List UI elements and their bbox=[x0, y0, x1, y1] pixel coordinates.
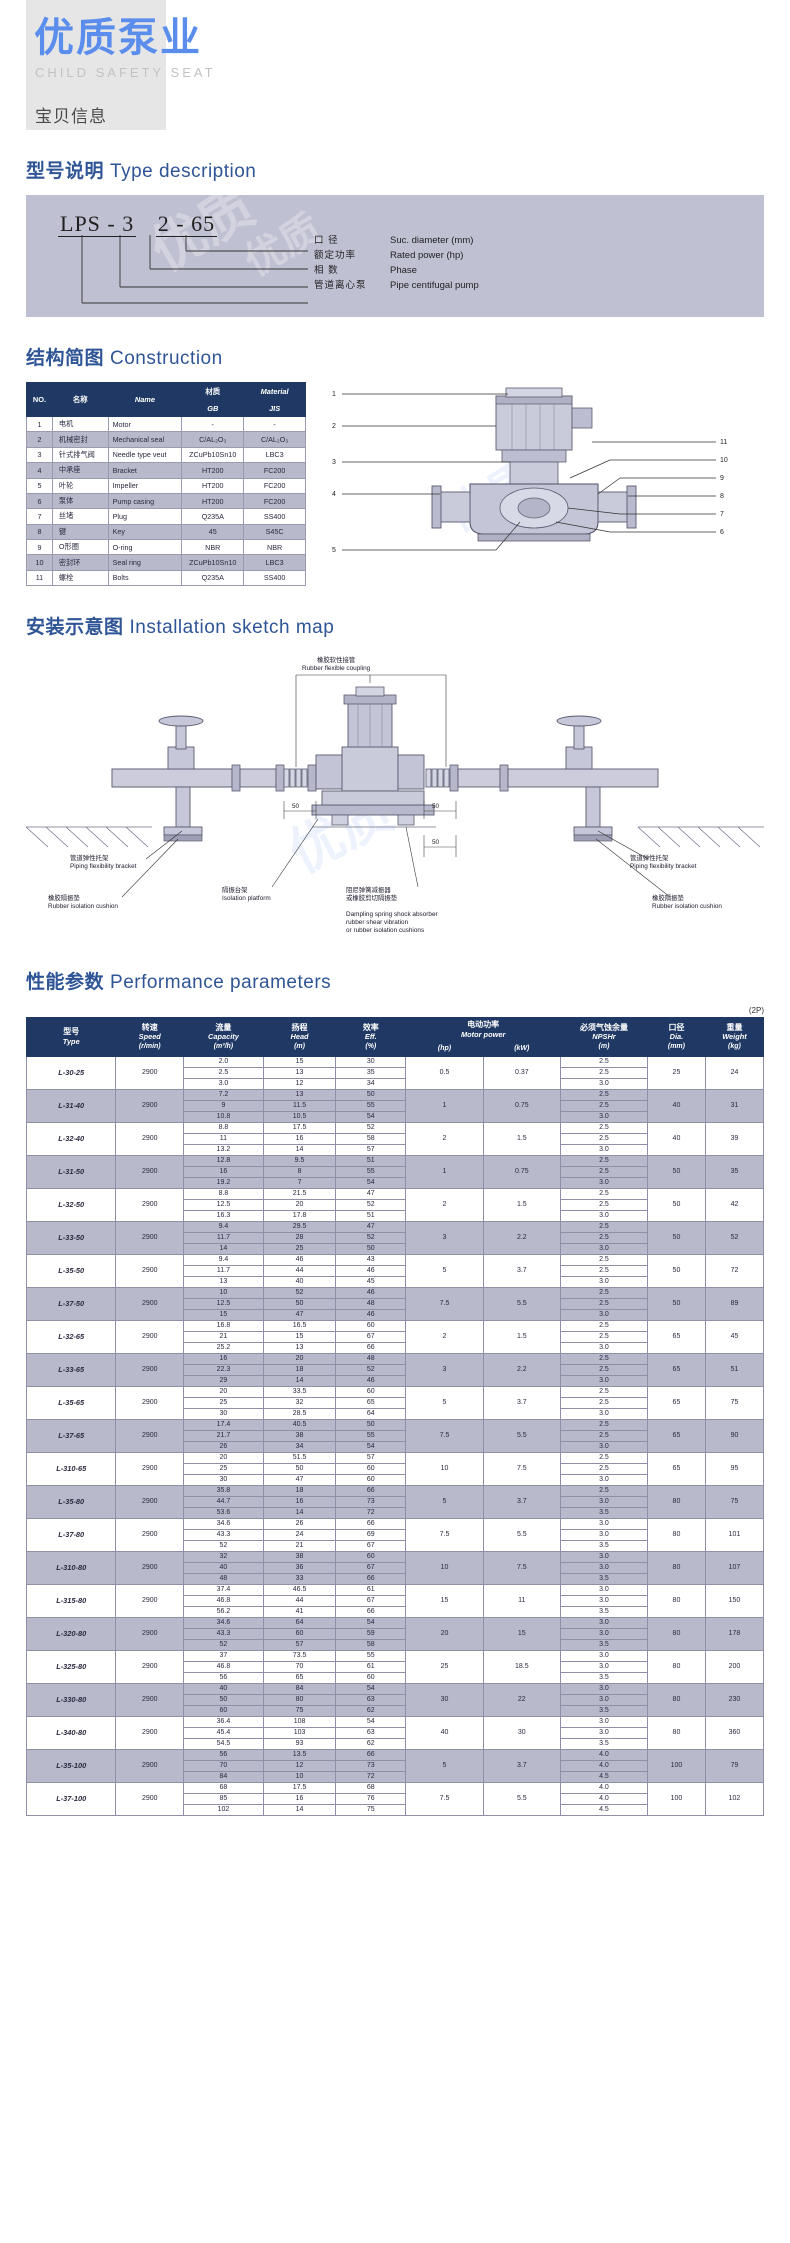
performance-npshr: 3.0 bbox=[560, 1441, 647, 1452]
performance-table-row: L-32-5029008.821.54721.52.55042 bbox=[27, 1188, 764, 1199]
performance-motor-kw: 5.5 bbox=[483, 1518, 560, 1551]
performance-eff: 68 bbox=[336, 1782, 406, 1793]
performance-capacity: 52 bbox=[184, 1639, 264, 1650]
construction-no: 11 bbox=[27, 570, 53, 585]
performance-capacity: 13.2 bbox=[184, 1144, 264, 1155]
performance-npshr: 3.0 bbox=[560, 1496, 647, 1507]
performance-head: 13 bbox=[263, 1067, 335, 1078]
performance-dia: 40 bbox=[647, 1089, 705, 1122]
performance-npshr: 4.5 bbox=[560, 1771, 647, 1782]
performance-capacity: 25 bbox=[184, 1397, 264, 1408]
performance-npshr: 2.5 bbox=[560, 1452, 647, 1463]
performance-speed: 2900 bbox=[116, 1287, 184, 1320]
construction-material-jis: - bbox=[244, 417, 306, 432]
performance-capacity: 46.8 bbox=[184, 1595, 264, 1606]
pump-cross-section-figure: 优质 bbox=[320, 382, 764, 567]
performance-eff: 34 bbox=[336, 1078, 406, 1089]
performance-npshr: 3.5 bbox=[560, 1507, 647, 1518]
performance-capacity: 9.4 bbox=[184, 1254, 264, 1265]
th-head: 扬程 Head (m) bbox=[263, 1018, 335, 1057]
performance-eff: 66 bbox=[336, 1518, 406, 1529]
performance-motor-hp: 20 bbox=[406, 1617, 483, 1650]
performance-motor-hp: 5 bbox=[406, 1485, 483, 1518]
performance-weight: 101 bbox=[705, 1518, 763, 1551]
construction-no: 5 bbox=[27, 478, 53, 493]
product-page: 优质泵业 CHILD SAFETY SEAT 宝贝信息 型号说明Type des… bbox=[0, 0, 790, 1816]
performance-speed: 2900 bbox=[116, 1617, 184, 1650]
performance-motor-kw: 0.75 bbox=[483, 1155, 560, 1188]
th-eff-cn: 效率 bbox=[337, 1023, 404, 1033]
label-cn: 橡胶隔振垫 bbox=[48, 895, 118, 903]
construction-no: 7 bbox=[27, 509, 53, 524]
performance-motor-kw: 15 bbox=[483, 1617, 560, 1650]
type-legend-row: 相 数 Phase bbox=[314, 263, 479, 278]
performance-npshr: 4.0 bbox=[560, 1782, 647, 1793]
performance-motor-kw: 3.7 bbox=[483, 1254, 560, 1287]
performance-type: L-32-50 bbox=[27, 1188, 116, 1221]
performance-capacity: 11.7 bbox=[184, 1232, 264, 1243]
performance-npshr: 2.5 bbox=[560, 1265, 647, 1276]
performance-npshr: 3.5 bbox=[560, 1573, 647, 1584]
section-title-installation-cn: 安装示意图 bbox=[26, 617, 124, 638]
label-cn: 阻尼弹簧减振器 或橡胶剪切隔振垫 bbox=[346, 887, 438, 903]
performance-speed: 2900 bbox=[116, 1122, 184, 1155]
construction-table-row: 5叶轮ImpellerHT200FC200 bbox=[27, 478, 306, 493]
performance-dia: 65 bbox=[647, 1386, 705, 1419]
performance-capacity: 60 bbox=[184, 1705, 264, 1716]
performance-motor-hp: 1 bbox=[406, 1089, 483, 1122]
performance-speed: 2900 bbox=[116, 1419, 184, 1452]
performance-eff: 66 bbox=[336, 1485, 406, 1496]
performance-capacity: 85 bbox=[184, 1793, 264, 1804]
performance-npshr: 4.0 bbox=[560, 1749, 647, 1760]
construction-material-gb: - bbox=[182, 417, 244, 432]
performance-capacity: 54.5 bbox=[184, 1738, 264, 1749]
performance-table-row: L-315-80290037.446.56115113.080150 bbox=[27, 1584, 764, 1595]
performance-head: 8 bbox=[263, 1166, 335, 1177]
performance-eff: 60 bbox=[336, 1551, 406, 1562]
th-motor-hp: (hp) bbox=[406, 1042, 483, 1057]
th-motor-en: Motor power bbox=[407, 1030, 559, 1040]
performance-head: 44 bbox=[263, 1265, 335, 1276]
performance-capacity: 29 bbox=[184, 1375, 264, 1386]
performance-npshr: 3.0 bbox=[560, 1177, 647, 1188]
performance-head: 60 bbox=[263, 1628, 335, 1639]
performance-type: L-325-80 bbox=[27, 1650, 116, 1683]
performance-table-row: L-35-5029009.4464353.72.55072 bbox=[27, 1254, 764, 1265]
performance-eff: 46 bbox=[336, 1287, 406, 1298]
performance-motor-hp: 7.5 bbox=[406, 1782, 483, 1815]
performance-head: 40 bbox=[263, 1276, 335, 1287]
performance-eff: 61 bbox=[336, 1584, 406, 1595]
label-en: Rubber isolation cushion bbox=[48, 903, 118, 911]
performance-weight: 230 bbox=[705, 1683, 763, 1716]
performance-capacity: 25 bbox=[184, 1463, 264, 1474]
performance-type: L-35-80 bbox=[27, 1485, 116, 1518]
construction-area: NO. 名称 Name 材质 Material GB JIS 1电机Motor-… bbox=[26, 382, 764, 586]
performance-table-row: L-33-5029009.429.54732.22.55052 bbox=[27, 1221, 764, 1232]
installation-sketch: 优质 bbox=[26, 651, 764, 941]
performance-table-row: L-32-4029008.817.55221.52.54039 bbox=[27, 1122, 764, 1133]
performance-npshr: 4.5 bbox=[560, 1804, 647, 1815]
performance-motor-hp: 7.5 bbox=[406, 1287, 483, 1320]
construction-name-en: Impeller bbox=[108, 478, 182, 493]
performance-eff: 52 bbox=[336, 1122, 406, 1133]
performance-dia: 50 bbox=[647, 1155, 705, 1188]
performance-head: 17.8 bbox=[263, 1210, 335, 1221]
performance-capacity: 36.4 bbox=[184, 1716, 264, 1727]
performance-table-row: L-310-6529002051.557107.52.56595 bbox=[27, 1452, 764, 1463]
performance-weight: 200 bbox=[705, 1650, 763, 1683]
performance-npshr: 2.5 bbox=[560, 1397, 647, 1408]
section-title-performance-en: Performance parameters bbox=[104, 972, 331, 993]
svg-text:9: 9 bbox=[720, 475, 724, 482]
performance-head: 9.5 bbox=[263, 1155, 335, 1166]
label-en: Rubber isolation cushion bbox=[652, 903, 722, 911]
performance-table-row: L-310-802900323860107.53.080107 bbox=[27, 1551, 764, 1562]
performance-npshr: 2.5 bbox=[560, 1166, 647, 1177]
construction-table-row: 8键Key45S45C bbox=[27, 524, 306, 539]
brand-header: 优质泵业 CHILD SAFETY SEAT 宝贝信息 bbox=[0, 0, 790, 130]
performance-eff: 52 bbox=[336, 1232, 406, 1243]
construction-name-en: Needle type veut bbox=[108, 447, 182, 462]
performance-head: 65 bbox=[263, 1672, 335, 1683]
th-head-unit: (m) bbox=[265, 1042, 334, 1052]
construction-name-cn: 针式排气阀 bbox=[52, 447, 108, 462]
performance-head: 17.5 bbox=[263, 1122, 335, 1133]
performance-head: 33 bbox=[263, 1573, 335, 1584]
performance-head: 51.5 bbox=[263, 1452, 335, 1463]
performance-capacity: 7.2 bbox=[184, 1089, 264, 1100]
performance-speed: 2900 bbox=[116, 1782, 184, 1815]
performance-dia: 80 bbox=[647, 1485, 705, 1518]
performance-npshr: 2.5 bbox=[560, 1430, 647, 1441]
construction-no: 8 bbox=[27, 524, 53, 539]
label-en: Piping flexibility bracket bbox=[70, 863, 136, 871]
section-title-performance-cn: 性能参数 bbox=[26, 972, 104, 993]
performance-npshr: 3.0 bbox=[560, 1727, 647, 1738]
performance-capacity: 102 bbox=[184, 1804, 264, 1815]
performance-npshr: 2.5 bbox=[560, 1463, 647, 1474]
label-en: Rubber flexible coupling bbox=[302, 665, 370, 673]
performance-type: L-35-65 bbox=[27, 1386, 116, 1419]
performance-eff: 60 bbox=[336, 1463, 406, 1474]
performance-capacity: 16 bbox=[184, 1166, 264, 1177]
type-legend-en: Pipe centifugal pump bbox=[390, 278, 479, 293]
th-no: NO. bbox=[27, 383, 53, 417]
performance-capacity: 14 bbox=[184, 1243, 264, 1254]
performance-head: 13 bbox=[263, 1089, 335, 1100]
performance-eff: 72 bbox=[336, 1507, 406, 1518]
performance-capacity: 34.6 bbox=[184, 1518, 264, 1529]
performance-pole-note: (2P) bbox=[0, 1006, 764, 1015]
performance-eff: 62 bbox=[336, 1738, 406, 1749]
th-capacity-cn: 流量 bbox=[185, 1023, 262, 1033]
performance-eff: 52 bbox=[336, 1199, 406, 1210]
performance-type: L-32-65 bbox=[27, 1320, 116, 1353]
performance-speed: 2900 bbox=[116, 1188, 184, 1221]
performance-motor-kw: 0.37 bbox=[483, 1056, 560, 1089]
performance-capacity: 2.0 bbox=[184, 1056, 264, 1067]
performance-capacity: 12.5 bbox=[184, 1199, 264, 1210]
performance-capacity: 70 bbox=[184, 1760, 264, 1771]
construction-table-row: 4中承座BracketHT200FC200 bbox=[27, 463, 306, 478]
performance-motor-kw: 7.5 bbox=[483, 1551, 560, 1584]
label-en: Isolation platform bbox=[222, 895, 271, 903]
performance-dia: 80 bbox=[647, 1650, 705, 1683]
section-title-type-description-cn: 型号说明 bbox=[26, 161, 104, 182]
performance-capacity: 44.7 bbox=[184, 1496, 264, 1507]
construction-material-jis: FC200 bbox=[244, 493, 306, 508]
svg-text:5: 5 bbox=[332, 547, 336, 554]
type-leader-lines bbox=[26, 195, 326, 317]
performance-capacity: 56.2 bbox=[184, 1606, 264, 1617]
performance-capacity: 21.7 bbox=[184, 1430, 264, 1441]
label-en: Piping flexibility bracket bbox=[630, 863, 696, 871]
performance-head: 14 bbox=[263, 1804, 335, 1815]
performance-eff: 67 bbox=[336, 1595, 406, 1606]
performance-eff: 67 bbox=[336, 1562, 406, 1573]
performance-head: 44 bbox=[263, 1595, 335, 1606]
construction-material-gb: ZCuPb10Sn10 bbox=[182, 447, 244, 462]
performance-eff: 43 bbox=[336, 1254, 406, 1265]
performance-motor-hp: 15 bbox=[406, 1584, 483, 1617]
th-speed-cn: 转速 bbox=[117, 1023, 182, 1033]
performance-motor-hp: 25 bbox=[406, 1650, 483, 1683]
performance-capacity: 48 bbox=[184, 1573, 264, 1584]
th-motor-power: 电动功率 Motor power bbox=[406, 1018, 561, 1042]
performance-head: 64 bbox=[263, 1617, 335, 1628]
th-eff-en: Eff. bbox=[337, 1032, 404, 1042]
performance-motor-kw: 11 bbox=[483, 1584, 560, 1617]
performance-capacity: 25.2 bbox=[184, 1342, 264, 1353]
th-dia-unit: (mm) bbox=[649, 1042, 704, 1052]
performance-type: L-37-50 bbox=[27, 1287, 116, 1320]
performance-head: 11.5 bbox=[263, 1100, 335, 1111]
performance-motor-hp: 2 bbox=[406, 1122, 483, 1155]
performance-table-row: L-37-80290034.626667.55.53.080101 bbox=[27, 1518, 764, 1529]
performance-capacity: 46.8 bbox=[184, 1661, 264, 1672]
construction-no: 2 bbox=[27, 432, 53, 447]
performance-head: 10.5 bbox=[263, 1111, 335, 1122]
performance-npshr: 3.0 bbox=[560, 1562, 647, 1573]
construction-no: 6 bbox=[27, 493, 53, 508]
label-damping-spring-shock-absorber: 阻尼弹簧减振器 或橡胶剪切隔振垫 Dampling spring shock a… bbox=[346, 879, 438, 943]
performance-capacity: 16 bbox=[184, 1353, 264, 1364]
performance-motor-kw: 1.5 bbox=[483, 1320, 560, 1353]
performance-head: 38 bbox=[263, 1551, 335, 1562]
performance-eff: 51 bbox=[336, 1210, 406, 1221]
svg-text:50: 50 bbox=[432, 839, 440, 846]
th-motor-kw: (kW) bbox=[483, 1042, 560, 1057]
performance-motor-hp: 5 bbox=[406, 1749, 483, 1782]
performance-dia: 50 bbox=[647, 1221, 705, 1254]
performance-eff: 55 bbox=[336, 1650, 406, 1661]
performance-npshr: 2.5 bbox=[560, 1298, 647, 1309]
performance-dia: 65 bbox=[647, 1452, 705, 1485]
performance-motor-hp: 30 bbox=[406, 1683, 483, 1716]
section-title-type-description: 型号说明Type description bbox=[26, 156, 790, 183]
performance-npshr: 3.0 bbox=[560, 1584, 647, 1595]
performance-motor-hp: 2 bbox=[406, 1188, 483, 1221]
performance-head: 15 bbox=[263, 1056, 335, 1067]
performance-capacity: 32 bbox=[184, 1551, 264, 1562]
performance-table-row: L-35-10029005613.56653.74.010079 bbox=[27, 1749, 764, 1760]
performance-eff: 60 bbox=[336, 1386, 406, 1397]
performance-head: 12 bbox=[263, 1760, 335, 1771]
construction-table-row: 11螺栓BoltsQ235ASS400 bbox=[27, 570, 306, 585]
performance-motor-hp: 7.5 bbox=[406, 1419, 483, 1452]
performance-npshr: 3.0 bbox=[560, 1518, 647, 1529]
performance-head: 16 bbox=[263, 1793, 335, 1804]
performance-eff: 54 bbox=[336, 1683, 406, 1694]
th-gb: GB bbox=[182, 401, 244, 417]
performance-eff: 55 bbox=[336, 1430, 406, 1441]
performance-motor-kw: 5.5 bbox=[483, 1782, 560, 1815]
svg-text:11: 11 bbox=[720, 439, 727, 446]
performance-eff: 54 bbox=[336, 1617, 406, 1628]
type-legend-row: 额定功率 Rated power (hp) bbox=[314, 248, 479, 263]
performance-capacity: 17.4 bbox=[184, 1419, 264, 1430]
performance-dia: 25 bbox=[647, 1056, 705, 1089]
performance-npshr: 3.0 bbox=[560, 1342, 647, 1353]
performance-capacity: 30 bbox=[184, 1474, 264, 1485]
performance-eff: 35 bbox=[336, 1067, 406, 1078]
th-jis: JIS bbox=[244, 401, 306, 417]
performance-npshr: 3.0 bbox=[560, 1595, 647, 1606]
performance-npshr: 3.0 bbox=[560, 1111, 647, 1122]
performance-type: L-310-65 bbox=[27, 1452, 116, 1485]
performance-npshr: 3.5 bbox=[560, 1639, 647, 1650]
construction-name-cn: 机械密封 bbox=[52, 432, 108, 447]
performance-head: 84 bbox=[263, 1683, 335, 1694]
label-cn: 管道弹性托架 bbox=[70, 855, 136, 863]
performance-motor-hp: 2 bbox=[406, 1320, 483, 1353]
th-capacity-unit: (m³/h) bbox=[185, 1042, 262, 1052]
performance-weight: 35 bbox=[705, 1155, 763, 1188]
performance-eff: 58 bbox=[336, 1133, 406, 1144]
construction-table-row: 10密封环Seal ringZCuPb10Sn10LBC3 bbox=[27, 555, 306, 570]
th-speed-unit: (r/min) bbox=[117, 1042, 182, 1052]
performance-head: 18 bbox=[263, 1485, 335, 1496]
performance-weight: 72 bbox=[705, 1254, 763, 1287]
performance-weight: 31 bbox=[705, 1089, 763, 1122]
performance-dia: 80 bbox=[647, 1584, 705, 1617]
performance-capacity: 10.8 bbox=[184, 1111, 264, 1122]
label-piping-flexibility-bracket-left: 管道弹性托架 Piping flexibility bracket bbox=[70, 855, 136, 871]
construction-material-jis: S45C bbox=[244, 524, 306, 539]
construction-name-cn: 螺栓 bbox=[52, 570, 108, 585]
performance-capacity: 37.4 bbox=[184, 1584, 264, 1595]
performance-npshr: 2.5 bbox=[560, 1331, 647, 1342]
performance-dia: 100 bbox=[647, 1782, 705, 1815]
performance-motor-hp: 40 bbox=[406, 1716, 483, 1749]
performance-table-row: L-35-80290035.8186653.72.58075 bbox=[27, 1485, 764, 1496]
performance-speed: 2900 bbox=[116, 1518, 184, 1551]
performance-speed: 2900 bbox=[116, 1749, 184, 1782]
performance-capacity: 50 bbox=[184, 1694, 264, 1705]
performance-motor-kw: 2.2 bbox=[483, 1353, 560, 1386]
performance-capacity: 16.8 bbox=[184, 1320, 264, 1331]
performance-table-row: L-320-80290034.6645420153.080178 bbox=[27, 1617, 764, 1628]
performance-motor-hp: 5 bbox=[406, 1386, 483, 1419]
performance-eff: 63 bbox=[336, 1727, 406, 1738]
performance-head: 52 bbox=[263, 1287, 335, 1298]
th-head-cn: 扬程 bbox=[265, 1023, 334, 1033]
type-legend-cn: 口 径 bbox=[314, 233, 390, 248]
section-title-type-description-en: Type description bbox=[104, 161, 256, 182]
performance-npshr: 2.5 bbox=[560, 1100, 647, 1111]
performance-npshr: 3.0 bbox=[560, 1078, 647, 1089]
type-legend-en: Rated power (hp) bbox=[390, 248, 463, 263]
construction-material-gb: 45 bbox=[182, 524, 244, 539]
th-capacity-en: Capacity bbox=[185, 1032, 262, 1042]
label-en: Dampling spring shock absorber rubber sh… bbox=[346, 911, 438, 935]
performance-capacity: 16.3 bbox=[184, 1210, 264, 1221]
th-eff-unit: (%) bbox=[337, 1042, 404, 1052]
performance-dia: 80 bbox=[647, 1716, 705, 1749]
performance-motor-kw: 3.7 bbox=[483, 1386, 560, 1419]
performance-capacity: 8.8 bbox=[184, 1122, 264, 1133]
construction-table-body: 1电机Motor--2机械密封Mechanical sealC/AL₂O₃C/A… bbox=[27, 417, 306, 586]
performance-table: 型号 Type 转速 Speed (r/min) 流量 Capacity (m³… bbox=[26, 1017, 764, 1816]
performance-dia: 50 bbox=[647, 1188, 705, 1221]
performance-type: L-35-100 bbox=[27, 1749, 116, 1782]
performance-npshr: 2.5 bbox=[560, 1254, 647, 1265]
performance-head: 25 bbox=[263, 1243, 335, 1254]
performance-head: 93 bbox=[263, 1738, 335, 1749]
performance-motor-kw: 30 bbox=[483, 1716, 560, 1749]
performance-npshr: 3.0 bbox=[560, 1683, 647, 1694]
performance-type: L-37-65 bbox=[27, 1419, 116, 1452]
performance-capacity: 9 bbox=[184, 1100, 264, 1111]
construction-name-cn: 密封环 bbox=[52, 555, 108, 570]
svg-text:50: 50 bbox=[432, 803, 440, 810]
performance-dia: 100 bbox=[647, 1749, 705, 1782]
label-cn: 橡胶隔振垫 bbox=[652, 895, 722, 903]
construction-material-jis: LBC3 bbox=[244, 447, 306, 462]
performance-table-row: L-31-4029007.2135010.752.54031 bbox=[27, 1089, 764, 1100]
performance-motor-kw: 5.5 bbox=[483, 1287, 560, 1320]
performance-motor-hp: 10 bbox=[406, 1551, 483, 1584]
performance-motor-kw: 3.7 bbox=[483, 1749, 560, 1782]
performance-eff: 67 bbox=[336, 1540, 406, 1551]
performance-motor-kw: 18.5 bbox=[483, 1650, 560, 1683]
performance-eff: 69 bbox=[336, 1529, 406, 1540]
performance-dia: 65 bbox=[647, 1320, 705, 1353]
performance-table-row: L-33-65290016204832.22.56551 bbox=[27, 1353, 764, 1364]
performance-weight: 24 bbox=[705, 1056, 763, 1089]
performance-motor-kw: 7.5 bbox=[483, 1452, 560, 1485]
performance-npshr: 2.5 bbox=[560, 1232, 647, 1243]
performance-capacity: 52 bbox=[184, 1540, 264, 1551]
performance-npshr: 3.0 bbox=[560, 1661, 647, 1672]
performance-eff: 73 bbox=[336, 1760, 406, 1771]
performance-head: 34 bbox=[263, 1441, 335, 1452]
performance-npshr: 2.5 bbox=[560, 1199, 647, 1210]
brand-title-cn: 优质泵业 bbox=[26, 14, 790, 62]
performance-motor-hp: 5 bbox=[406, 1254, 483, 1287]
performance-npshr: 2.5 bbox=[560, 1089, 647, 1100]
performance-head: 41 bbox=[263, 1606, 335, 1617]
pump-diagram-svg: 优质 bbox=[320, 382, 740, 567]
performance-npshr: 3.5 bbox=[560, 1606, 647, 1617]
performance-capacity: 20 bbox=[184, 1386, 264, 1397]
construction-name-en: Seal ring bbox=[108, 555, 182, 570]
label-cn: 橡胶软性接管 bbox=[302, 657, 370, 665]
performance-type: L-315-80 bbox=[27, 1584, 116, 1617]
performance-npshr: 3.0 bbox=[560, 1474, 647, 1485]
